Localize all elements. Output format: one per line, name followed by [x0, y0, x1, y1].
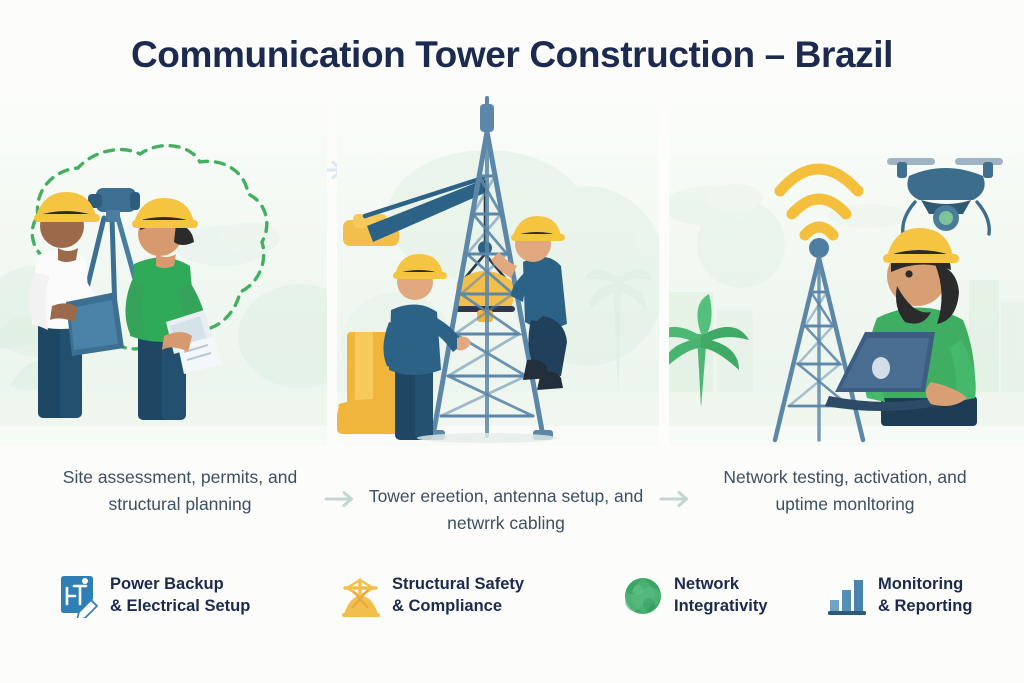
feature-label-line-2: & Compliance: [392, 596, 524, 618]
infographic-canvas: Communication Tower Construction – Brazi…: [0, 0, 1024, 683]
tower-erection-scene: [337, 96, 659, 446]
tower-crane-icon: [340, 574, 382, 618]
feature-label-line-2: Integrativity: [674, 596, 768, 618]
electrical-plan-icon: [58, 574, 100, 618]
feature-network-integrativity[interactable]: Network Integrativity: [622, 574, 768, 618]
feature-label-line-1: Power Backup: [110, 574, 250, 596]
feature-structural-safety[interactable]: Structural Safety & Compliance: [340, 574, 524, 618]
caption-network-activation: Network testing, activation, and uptime …: [716, 464, 974, 518]
caption-site-survey: Site assessment, permits, and structural…: [52, 464, 308, 518]
caption-arrow-right-icon-1: [323, 488, 363, 510]
illustration-tower-erection: [337, 96, 659, 446]
feature-label-line-1: Structural Safety: [392, 574, 524, 596]
feature-label-line-2: & Reporting: [878, 596, 972, 618]
illustration-network-activation: [669, 96, 1024, 446]
drone: [887, 158, 1003, 234]
feature-monitoring-reporting[interactable]: Monitoring & Reporting: [826, 574, 972, 618]
feature-label: Structural Safety & Compliance: [392, 574, 524, 618]
feature-label: Network Integrativity: [674, 574, 768, 618]
caption-tower-erection: Tower ereetion, antenna setup, and netwr…: [362, 483, 650, 537]
caption-arrow-right-icon-2: [658, 488, 698, 510]
surveyors-scene: [0, 96, 327, 446]
bar-chart-icon: [826, 574, 868, 618]
feature-power-backup[interactable]: Power Backup & Electrical Setup: [58, 574, 250, 618]
feature-label: Monitoring & Reporting: [878, 574, 972, 618]
feature-label-line-1: Network: [674, 574, 768, 596]
illustration-site-survey: [0, 96, 327, 446]
feature-label: Power Backup & Electrical Setup: [110, 574, 250, 618]
feature-label-line-1: Monitoring: [878, 574, 972, 596]
network-activation-scene: [669, 96, 1024, 446]
globe-icon: [622, 574, 664, 618]
feature-label-line-2: & Electrical Setup: [110, 596, 250, 618]
page-title: Communication Tower Construction – Brazi…: [0, 34, 1024, 76]
